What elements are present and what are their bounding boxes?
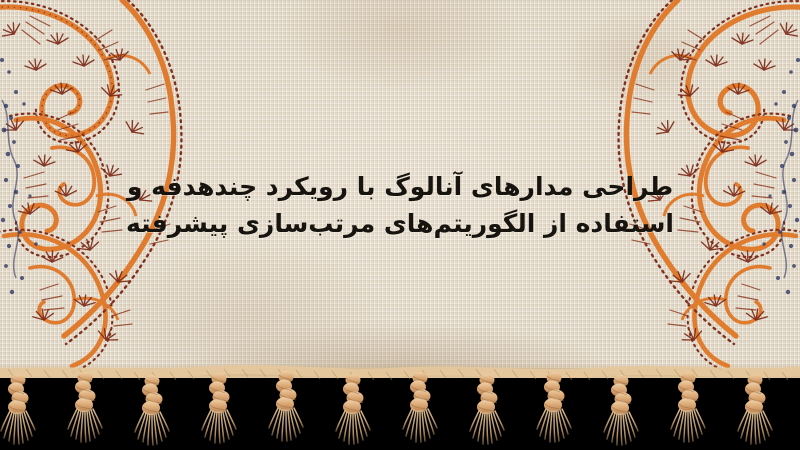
title-line-1: طراحی مدارهای آنالوگ با رویکرد چندهدفه و — [0, 168, 800, 205]
tassel-fringe — [0, 360, 800, 450]
screenshot-canvas: طراحی مدارهای آنالوگ با رویکرد چندهدفه و… — [0, 0, 800, 450]
title-line-2: استفاده از الگوریتم‌های مرتب‌سازی پیشرفت… — [0, 205, 800, 242]
title-block: طراحی مدارهای آنالوگ با رویکرد چندهدفه و… — [0, 168, 800, 242]
